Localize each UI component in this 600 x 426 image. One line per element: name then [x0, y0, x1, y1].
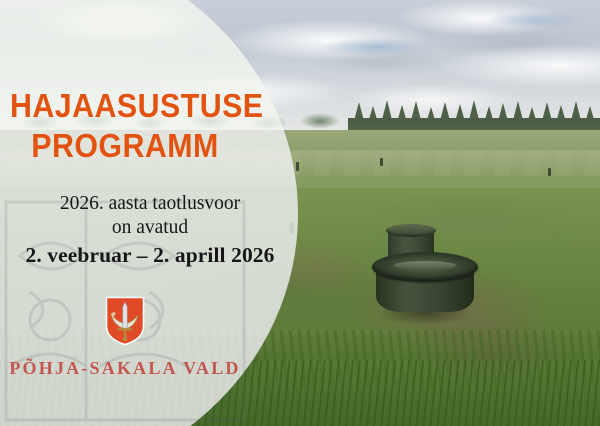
subtitle-line-2: on avatud [112, 217, 188, 238]
date-range: 2. veebruar – 2. aprill 2026 [0, 240, 300, 270]
title-line-1: HAJAASUSTUSE [10, 87, 264, 124]
sword-grip [124, 331, 127, 338]
crest-container [0, 296, 250, 346]
subtitle-line-1: 2026. aasta taotlusvoor [60, 193, 240, 214]
septic-tank-small-lid [386, 224, 436, 237]
municipality-name: PÕHJA-SAKALA VALD [0, 358, 250, 379]
sword-blade-icon [123, 302, 127, 328]
coat-of-arms [105, 296, 145, 346]
sword-pommel [123, 337, 128, 342]
text-content: HAJAASUSTUSE PROGRAMM 2026. aasta taotlu… [0, 0, 300, 426]
shield-icon [105, 296, 145, 346]
septic-tank-large-lid [372, 252, 478, 282]
page-title: HAJAASUSTUSE PROGRAMM [10, 86, 240, 166]
sky-blue-patch-2 [470, 8, 600, 32]
subtitle-block: 2026. aasta taotlusvoor on avatud 2. vee… [0, 192, 300, 270]
sword-guard [118, 328, 133, 331]
field-post-4 [548, 168, 551, 176]
poster-canvas: HAJAASUSTUSE PROGRAMM 2026. aasta taotlu… [0, 0, 600, 426]
sky-blue-patch [300, 34, 450, 60]
field-post-2 [380, 158, 383, 166]
title-line-2: PROGRAMM [10, 126, 240, 166]
